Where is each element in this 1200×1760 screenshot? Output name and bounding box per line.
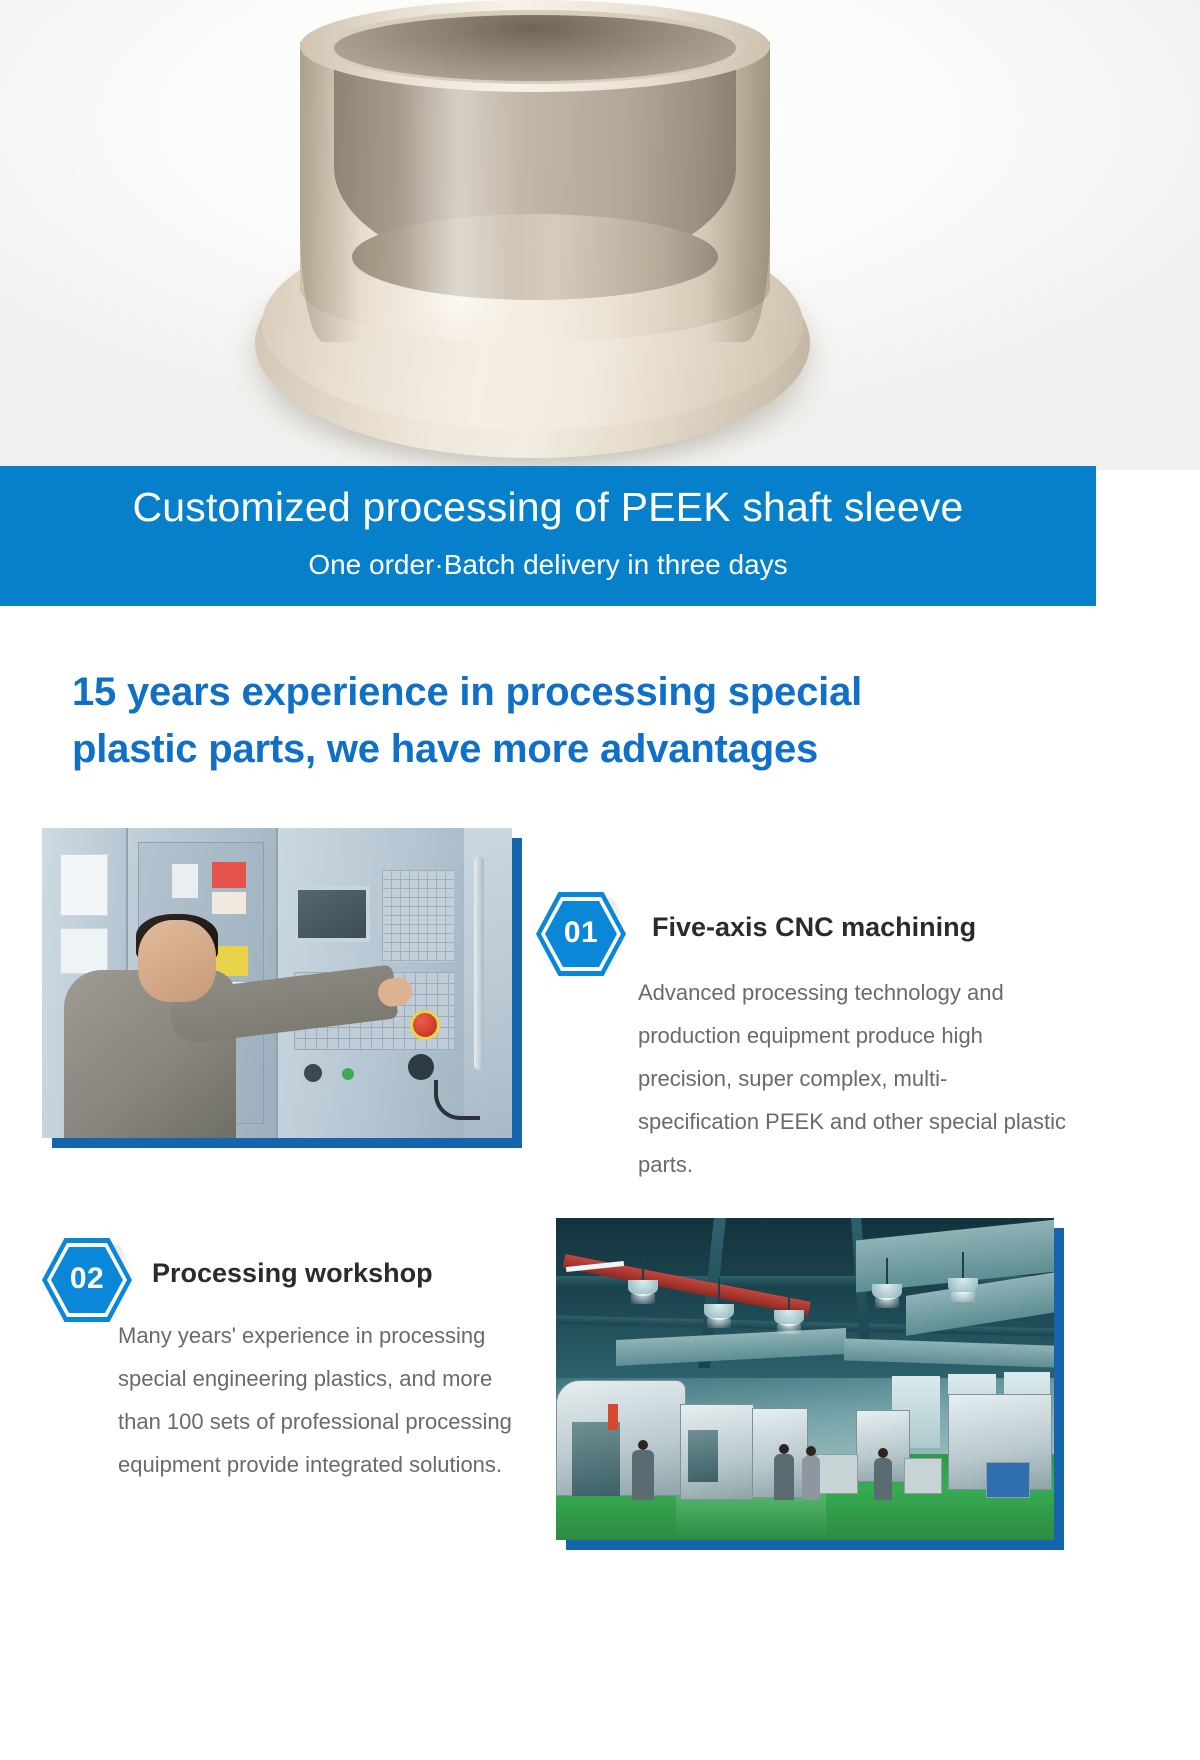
cnc-knob: [304, 1064, 322, 1082]
cnc-emergency-stop-button: [410, 1010, 440, 1040]
hero-product-image: [0, 0, 1200, 470]
material-cart-3: [986, 1462, 1030, 1498]
banner-title: Customized processing of PEEK shaft slee…: [0, 485, 1096, 530]
cnc-machine-2-window: [688, 1430, 718, 1482]
feature-02-body: Many years' experience in processing spe…: [118, 1315, 530, 1487]
cnc-sticker-red: [212, 862, 246, 888]
worker-1: [632, 1450, 654, 1500]
pendant-lamp-1: [628, 1280, 658, 1296]
feature-02-number: 02: [70, 1264, 104, 1294]
cnc-sticker-white: [172, 864, 198, 898]
feature-02-photo: [556, 1218, 1054, 1540]
feature-01-body: Advanced processing technology and produ…: [638, 972, 1068, 1186]
material-cart-2: [904, 1458, 942, 1494]
feature-01-title: Five-axis CNC machining: [652, 913, 976, 943]
worker-2: [774, 1454, 794, 1500]
feature-01-badge: 01: [536, 888, 628, 980]
hero-banner: Customized processing of PEEK shaft slee…: [0, 466, 1096, 606]
cnc-sticker-cream: [212, 892, 246, 914]
worker-3: [802, 1456, 820, 1500]
pendant-lamp-3: [774, 1310, 804, 1326]
page-title-line-2: plastic parts, we have more advantages: [72, 721, 1082, 778]
machine-stack-light: [608, 1404, 618, 1430]
cnc-screen: [294, 886, 370, 942]
pendant-lamp-5: [948, 1278, 978, 1294]
cnc-door-handle: [474, 856, 484, 1070]
cnc-indicator-light: [342, 1068, 354, 1080]
feature-02-badge: 02: [42, 1234, 134, 1326]
banner-subtitle: One order·Batch delivery in three days: [0, 550, 1096, 581]
product-highlight: [400, 70, 520, 320]
cnc-posted-sheet-1: [60, 854, 108, 916]
feature-01-photo: [42, 828, 512, 1138]
feature-01-image: [42, 828, 512, 1138]
cnc-dial: [408, 1054, 434, 1080]
product-bore: [334, 15, 736, 81]
product-shade-right: [706, 42, 770, 342]
cnc-posted-sheet-2: [60, 928, 108, 974]
pendant-lamp-4: [872, 1284, 902, 1300]
cnc-machine-1-door: [572, 1422, 620, 1496]
material-cart-1: [816, 1454, 858, 1494]
cnc-keypad-upper: [382, 870, 454, 962]
worker-4: [874, 1458, 892, 1500]
feature-02-image: [556, 1218, 1054, 1540]
product-shade-left: [300, 42, 360, 342]
pendant-lamp-2: [704, 1304, 734, 1320]
operator-head: [138, 920, 216, 1002]
page-title-line-1: 15 years experience in processing specia…: [72, 664, 1082, 721]
page-title: 15 years experience in processing specia…: [72, 664, 1082, 778]
feature-02-title: Processing workshop: [152, 1259, 433, 1289]
feature-01-number: 01: [564, 918, 598, 948]
